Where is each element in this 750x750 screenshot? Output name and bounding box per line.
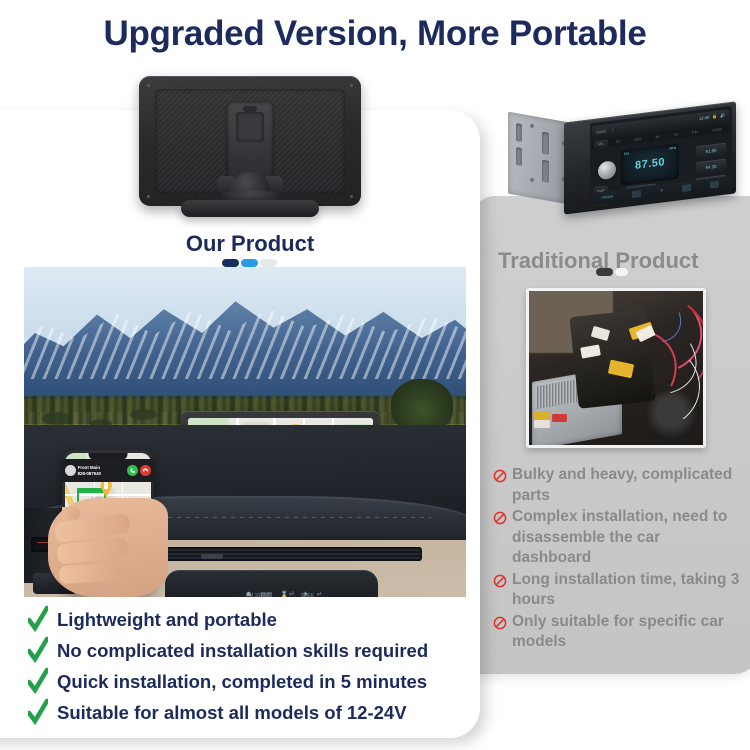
air-vent bbox=[139, 547, 422, 561]
pip-active bbox=[241, 259, 258, 267]
dashboard-scene-image: W Woodbury Leon St Tuso St Arroyo Nort T… bbox=[24, 267, 466, 597]
benefit-text: Suitable for almost all models of 12-24V bbox=[57, 697, 407, 728]
screw-icon bbox=[350, 84, 353, 87]
list-item: Suitable for almost all models of 12-24V bbox=[28, 697, 478, 728]
track-prev-icon bbox=[632, 190, 641, 198]
pip-filled bbox=[596, 268, 613, 276]
list-item: No complicated installation skills requi… bbox=[28, 635, 478, 666]
back-icon: ↵ bbox=[317, 591, 323, 597]
car-stereo-image: ▲ ◯ ⋮ 12:40 🔒 🔊 ⚠ STRDSAFTAPTYLOUD 87.80… bbox=[508, 112, 736, 204]
mount-bracket bbox=[227, 102, 273, 180]
accept-call-button[interactable] bbox=[127, 465, 138, 476]
list-item: Lightweight and portable bbox=[28, 604, 478, 635]
vent-knob[interactable] bbox=[201, 554, 223, 559]
mode-button[interactable]: MODE bbox=[594, 127, 608, 137]
decline-call-button[interactable] bbox=[140, 465, 151, 476]
drawback-text: Only suitable for specific car models bbox=[512, 612, 741, 653]
screw-icon bbox=[147, 84, 150, 87]
infographic-canvas: Upgraded Version, More Portable Our Prod… bbox=[0, 0, 750, 750]
drawback-text: Long installation time, taking 3 hours bbox=[512, 570, 741, 611]
radio-display: FM MHz 87.50 bbox=[621, 143, 679, 185]
prohibited-icon bbox=[493, 613, 507, 633]
benefit-text: No complicated installation skills requi… bbox=[57, 635, 428, 666]
stand-base bbox=[181, 200, 319, 217]
drawbacks-list: Bulky and heavy, complicated parts Compl… bbox=[493, 465, 741, 654]
info-icon: ⋮ bbox=[610, 126, 614, 131]
screw-icon bbox=[350, 195, 353, 198]
prohibited-icon bbox=[493, 466, 507, 486]
benefit-text: Quick installation, completed in 5 minut… bbox=[57, 666, 427, 697]
prohibited-icon bbox=[493, 571, 507, 591]
caller-avatar bbox=[65, 465, 76, 476]
our-product-progress-pips bbox=[222, 259, 277, 267]
band-text: FM/AM bbox=[602, 195, 614, 200]
check-icon bbox=[28, 698, 48, 726]
drawback-text: Bulky and heavy, complicated parts bbox=[512, 465, 741, 506]
rca-connector-white bbox=[534, 420, 550, 428]
list-item: Bulky and heavy, complicated parts bbox=[493, 465, 741, 506]
check-icon bbox=[28, 667, 48, 695]
prohibited-icon bbox=[493, 508, 507, 528]
sel-button[interactable]: SEL bbox=[594, 139, 608, 149]
band-label: FM bbox=[624, 152, 629, 157]
volume-icon: 🔊 bbox=[720, 113, 725, 119]
pip-empty bbox=[615, 268, 628, 276]
list-item: Only suitable for specific car models bbox=[493, 612, 741, 653]
radio-band-text: FM 101.9 bbox=[246, 593, 267, 597]
list-item: Quick installation, completed in 5 minut… bbox=[28, 666, 478, 697]
center-console[interactable]: ☗ ▤▤ ⌛⏎ ❖ ↵ FM 101.9 SEEK bbox=[165, 570, 377, 597]
our-product-label: Our Product bbox=[150, 231, 350, 257]
rca-connector-yellow bbox=[534, 411, 550, 419]
tree bbox=[391, 379, 453, 432]
pip-filled bbox=[222, 259, 239, 267]
head-unit[interactable]: ▲ ◯ ⋮ 12:40 🔒 🔊 ⚠ STRDSAFTAPTYLOUD 87.80… bbox=[564, 101, 736, 214]
check-icon bbox=[28, 605, 48, 633]
page-title: Upgraded Version, More Portable bbox=[0, 14, 750, 54]
portable-monitor-rear-image bbox=[139, 76, 361, 206]
screw-icon bbox=[147, 195, 150, 198]
lock-icon: 🔒 bbox=[712, 114, 717, 120]
seek-text: SEEK bbox=[301, 593, 314, 597]
frequency-value: 87.50 bbox=[635, 157, 665, 173]
list-item: Complex installation, need to disassembl… bbox=[493, 507, 741, 569]
menu-icon bbox=[710, 180, 719, 188]
wiring-harness-photo bbox=[526, 288, 706, 448]
track-next-icon bbox=[682, 183, 691, 191]
check-icon bbox=[28, 636, 48, 664]
caller-number: 828-087940 bbox=[78, 471, 126, 477]
search-icon: ⚲ bbox=[660, 188, 663, 192]
benefits-list: Lightweight and portable No complicated … bbox=[28, 604, 478, 728]
unit-label: MHz bbox=[669, 146, 676, 151]
drawback-text: Complex installation, need to disassembl… bbox=[512, 507, 741, 569]
console-text-row: FM 101.9 SEEK bbox=[246, 595, 314, 596]
phone-notch bbox=[88, 453, 127, 460]
pip-empty bbox=[260, 259, 277, 267]
rca-connector-red bbox=[552, 414, 568, 422]
list-item: Long installation time, taking 3 hours bbox=[493, 570, 741, 611]
time-text: 12:40 bbox=[699, 115, 709, 121]
incoming-call-banner: Front Main 828-087940 bbox=[62, 459, 155, 482]
traditional-product-progress-pips bbox=[596, 268, 628, 276]
benefit-text: Lightweight and portable bbox=[57, 604, 277, 635]
